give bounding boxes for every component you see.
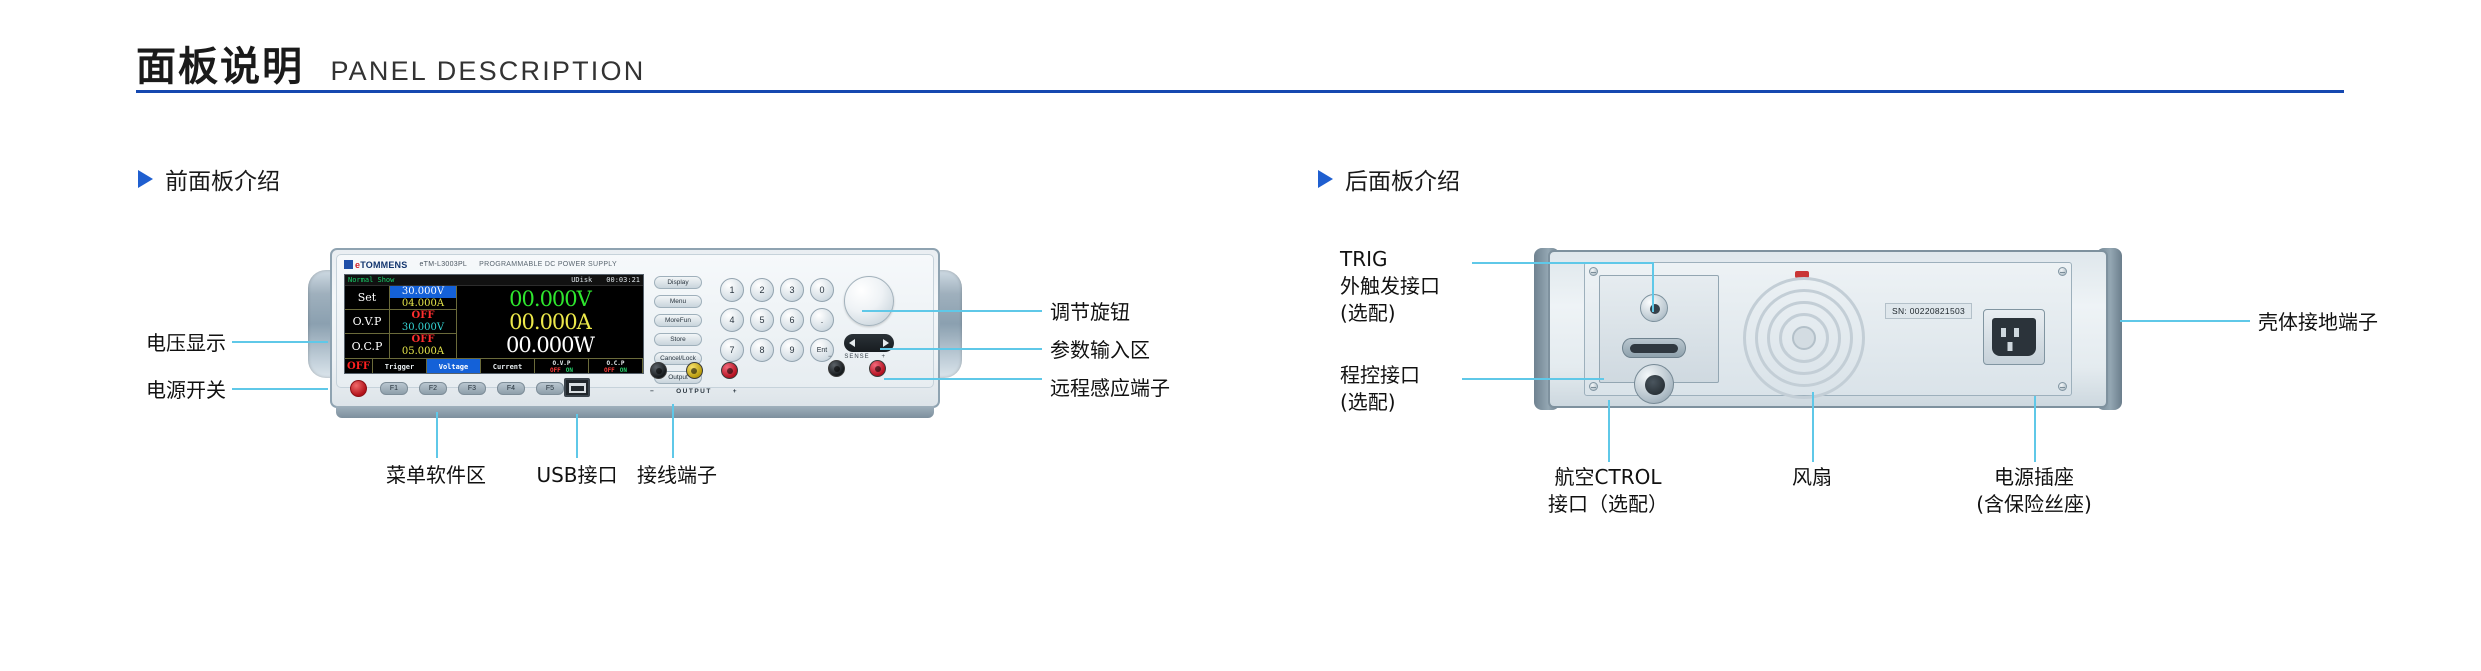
annotation-fan: 风扇	[1752, 464, 1872, 491]
triangle-right-icon	[138, 170, 153, 188]
rotary-knob[interactable]	[844, 276, 894, 326]
button-morefun[interactable]: MoreFun	[654, 314, 702, 327]
leader-param-input	[880, 348, 1042, 350]
lcd-status-bar: Normal Show UDisk 00:03:21	[345, 275, 643, 286]
lcd-status-time: 00:03:21	[606, 276, 640, 284]
lcd-status-usb: UDisk	[571, 276, 592, 284]
output-terminal-negative[interactable]	[650, 362, 667, 379]
leader-trig-v	[1652, 262, 1654, 312]
annotation-aviation-ctrol-interface: 航空CTROL 接口（选配）	[1508, 464, 1708, 518]
lcd-main-area: Set 30.000V 04.000A O.V.P OFF 30.000V	[345, 286, 643, 358]
button-display[interactable]: Display	[654, 276, 702, 289]
output-terminal-positive[interactable]	[721, 362, 738, 379]
front-panel-body: eTOMMENS eTM-L3003PL PROGRAMMABLE DC POW…	[330, 248, 940, 408]
softkey-f3[interactable]: F3	[458, 382, 486, 395]
lcd-softkey-ovp-on: ON	[566, 367, 573, 374]
annotation-menu-softkey-area: 菜单软件区	[356, 462, 516, 489]
annotation-power-socket-with-fuse: 电源插座 (含保险丝座)	[1934, 464, 2134, 518]
annotation-wiring-terminals: 接线端子	[612, 462, 742, 489]
annotation-adjust-knob: 调节旋钮	[1050, 299, 1130, 326]
lcd-softkey-ocp-on: ON	[620, 367, 627, 374]
lcd-settings-column: Set 30.000V 04.000A O.V.P OFF 30.000V	[345, 286, 457, 358]
lcd-status-mode: Normal Show	[348, 276, 394, 284]
lcd-softkey-ocp[interactable]: O.C.P OFFON	[589, 359, 643, 374]
softkey-f5[interactable]: F5	[536, 382, 564, 395]
power-button[interactable]	[350, 380, 367, 397]
key-0[interactable]: 0	[810, 278, 834, 302]
usb-port-icon[interactable]	[564, 378, 590, 397]
lcd-softkey-ovp-off: OFF	[550, 367, 561, 374]
lcd-row-label: Set	[345, 286, 389, 309]
lcd-ovp-state: OFF	[390, 310, 456, 322]
key-8[interactable]: 8	[750, 338, 774, 362]
rear-panel-inner: SN: 00220821503	[1584, 262, 2072, 396]
leader-wiring-v	[672, 404, 674, 458]
key-9[interactable]: 9	[780, 338, 804, 362]
button-menu[interactable]: Menu	[654, 295, 702, 308]
rear-panel-illustration: SN: 00220821503	[1548, 250, 2108, 408]
screw-bottom-right	[2058, 382, 2067, 391]
front-panel-illustration: eTOMMENS eTM-L3003PL PROGRAMMABLE DC POW…	[330, 248, 940, 408]
annotation-parameter-input-area: 参数输入区	[1050, 337, 1150, 364]
annotation-remote-sense-terminals: 远程感应端子	[1050, 375, 1170, 402]
lcd-softkey-ocp-off: OFF	[604, 367, 615, 374]
lcd-row-ovp: O.V.P OFF 30.000V	[345, 310, 456, 334]
key-7[interactable]: 7	[720, 338, 744, 362]
arrow-right-icon[interactable]	[883, 339, 889, 347]
screw-bottom-left	[1589, 382, 1598, 391]
screw-top-right	[2058, 267, 2067, 276]
front-panel-foot	[336, 406, 934, 418]
leader-aviation-v	[1608, 400, 1610, 462]
screw-top-left	[1589, 267, 1598, 276]
sense-terminal-positive[interactable]	[869, 360, 886, 377]
lcd-ovp-value: 30.000V	[390, 322, 456, 334]
brand-name-rest: TOMMENS	[360, 260, 407, 270]
leader-usb-v	[576, 414, 578, 458]
triangle-right-icon	[1318, 170, 1333, 188]
lcd-softkey-off[interactable]: OFF	[345, 359, 373, 374]
lcd-row-ocp: O.C.P OFF 05.000A	[345, 334, 456, 358]
section-heading-front-panel: 前面板介绍	[138, 162, 280, 196]
lcd-softkey-trigger[interactable]: Trigger	[373, 359, 427, 374]
lcd-ocp-value: 05.000A	[390, 346, 456, 358]
key-1[interactable]: 1	[720, 278, 744, 302]
db9-connector-icon[interactable]	[1622, 338, 1686, 358]
page-title-cn: 面板说明	[136, 34, 304, 92]
section-heading-rear-panel: 后面板介绍	[1318, 162, 1460, 196]
softkey-f4[interactable]: F4	[497, 382, 525, 395]
lcd-readout-voltage: 00.000V	[509, 288, 591, 310]
softkey-f2[interactable]: F2	[419, 382, 447, 395]
leader-prog	[1462, 378, 1604, 380]
bnc-connector-icon[interactable]	[1640, 294, 1668, 322]
softkey-row: F1 F2 F3 F4 F5	[380, 382, 564, 395]
softkey-f1[interactable]: F1	[380, 382, 408, 395]
aviation-connector-icon[interactable]	[1634, 364, 1674, 404]
button-store[interactable]: Store	[654, 333, 702, 346]
leader-menu-softkey-v	[436, 412, 438, 458]
annotation-chassis-ground-terminal: 壳体接地端子	[2258, 309, 2378, 336]
annotation-power-switch: 电源开关	[136, 377, 226, 404]
lcd-screen[interactable]: Normal Show UDisk 00:03:21 Set 30.000V 0…	[344, 274, 644, 374]
leader-trig	[1472, 262, 1652, 264]
leader-remote-sense	[884, 378, 1042, 380]
arrow-left-icon[interactable]	[849, 339, 855, 347]
output-plus-label: +	[733, 388, 738, 395]
page-title-en: PANEL DESCRIPTION	[330, 56, 645, 87]
lcd-row-label: O.V.P	[345, 310, 389, 333]
lcd-softkey-ovp[interactable]: O.V.P OFFON	[535, 359, 589, 374]
annotation-trig-external-trigger: TRIG 外触发接口 (选配)	[1340, 246, 1440, 327]
output-terminal-ground[interactable]	[686, 362, 703, 379]
annotation-program-control-interface: 程控接口 (选配)	[1340, 362, 1420, 416]
key-5[interactable]: 5	[750, 308, 774, 332]
annotation-voltage-display: 电压显示	[136, 330, 226, 357]
rear-panel-body: SN: 00220821503	[1548, 250, 2108, 408]
sense-terminal-negative[interactable]	[828, 360, 845, 377]
key-2[interactable]: 2	[750, 278, 774, 302]
output-label: OUTPUT	[676, 388, 712, 395]
connector-module	[1599, 275, 1719, 383]
lcd-readout-power: 00.000W	[506, 334, 594, 356]
lcd-row-label: O.C.P	[345, 334, 389, 358]
leader-fan-v	[1812, 392, 1814, 462]
sense-terminal-pair	[828, 360, 886, 377]
page-header: 面板说明 PANEL DESCRIPTION	[136, 34, 2344, 92]
lcd-ocp-state: OFF	[390, 334, 456, 346]
brand-bar: eTOMMENS eTM-L3003PL PROGRAMMABLE DC POW…	[344, 258, 617, 271]
lcd-set-current: 04.000A	[390, 298, 456, 310]
lcd-softkey-ocp-label: O.C.P	[606, 360, 624, 367]
lcd-softkey-voltage[interactable]: Voltage	[427, 359, 481, 374]
leader-power-switch	[232, 388, 328, 390]
fan-grille-icon	[1743, 277, 1865, 399]
iec-power-socket-icon[interactable]	[1983, 309, 2045, 365]
lcd-readout-column: 00.000V 00.000A 00.000W	[457, 286, 643, 358]
leader-voltage-display	[232, 341, 328, 343]
lcd-row-set: Set 30.000V 04.000A	[345, 286, 456, 310]
leader-chassis-ground	[2120, 320, 2250, 322]
product-description: PROGRAMMABLE DC POWER SUPPLY	[479, 261, 617, 268]
leader-socket-v	[2034, 396, 2036, 462]
output-minus-label: −	[650, 388, 655, 395]
output-label-group: −OUTPUT+	[650, 388, 738, 395]
section-label-rear: 后面板介绍	[1345, 162, 1460, 196]
lcd-softkey-ovp-label: O.V.P	[552, 360, 570, 367]
lcd-readout-current: 00.000A	[509, 311, 591, 333]
brand-logo-icon: eTOMMENS	[344, 260, 407, 270]
lcd-softkey-current[interactable]: Current	[481, 359, 535, 374]
key-6[interactable]: 6	[780, 308, 804, 332]
key-4[interactable]: 4	[720, 308, 744, 332]
output-terminal-group	[650, 362, 738, 379]
model-number: eTM-L3003PL	[419, 261, 467, 268]
leader-adjust-knob	[862, 310, 1042, 312]
lcd-set-voltage: 30.000V	[390, 286, 456, 298]
header-rule	[136, 90, 2344, 93]
lcd-softkey-bar: OFF Trigger Voltage Current O.V.P OFFON …	[345, 358, 643, 374]
key-dot[interactable]: .	[810, 308, 834, 332]
numeric-keypad: 1 2 3 0 4 5 6 . 7 8 9 Ent	[720, 278, 834, 362]
serial-number-label: SN: 00220821503	[1885, 303, 1972, 319]
section-label-front: 前面板介绍	[165, 162, 280, 196]
key-3[interactable]: 3	[780, 278, 804, 302]
